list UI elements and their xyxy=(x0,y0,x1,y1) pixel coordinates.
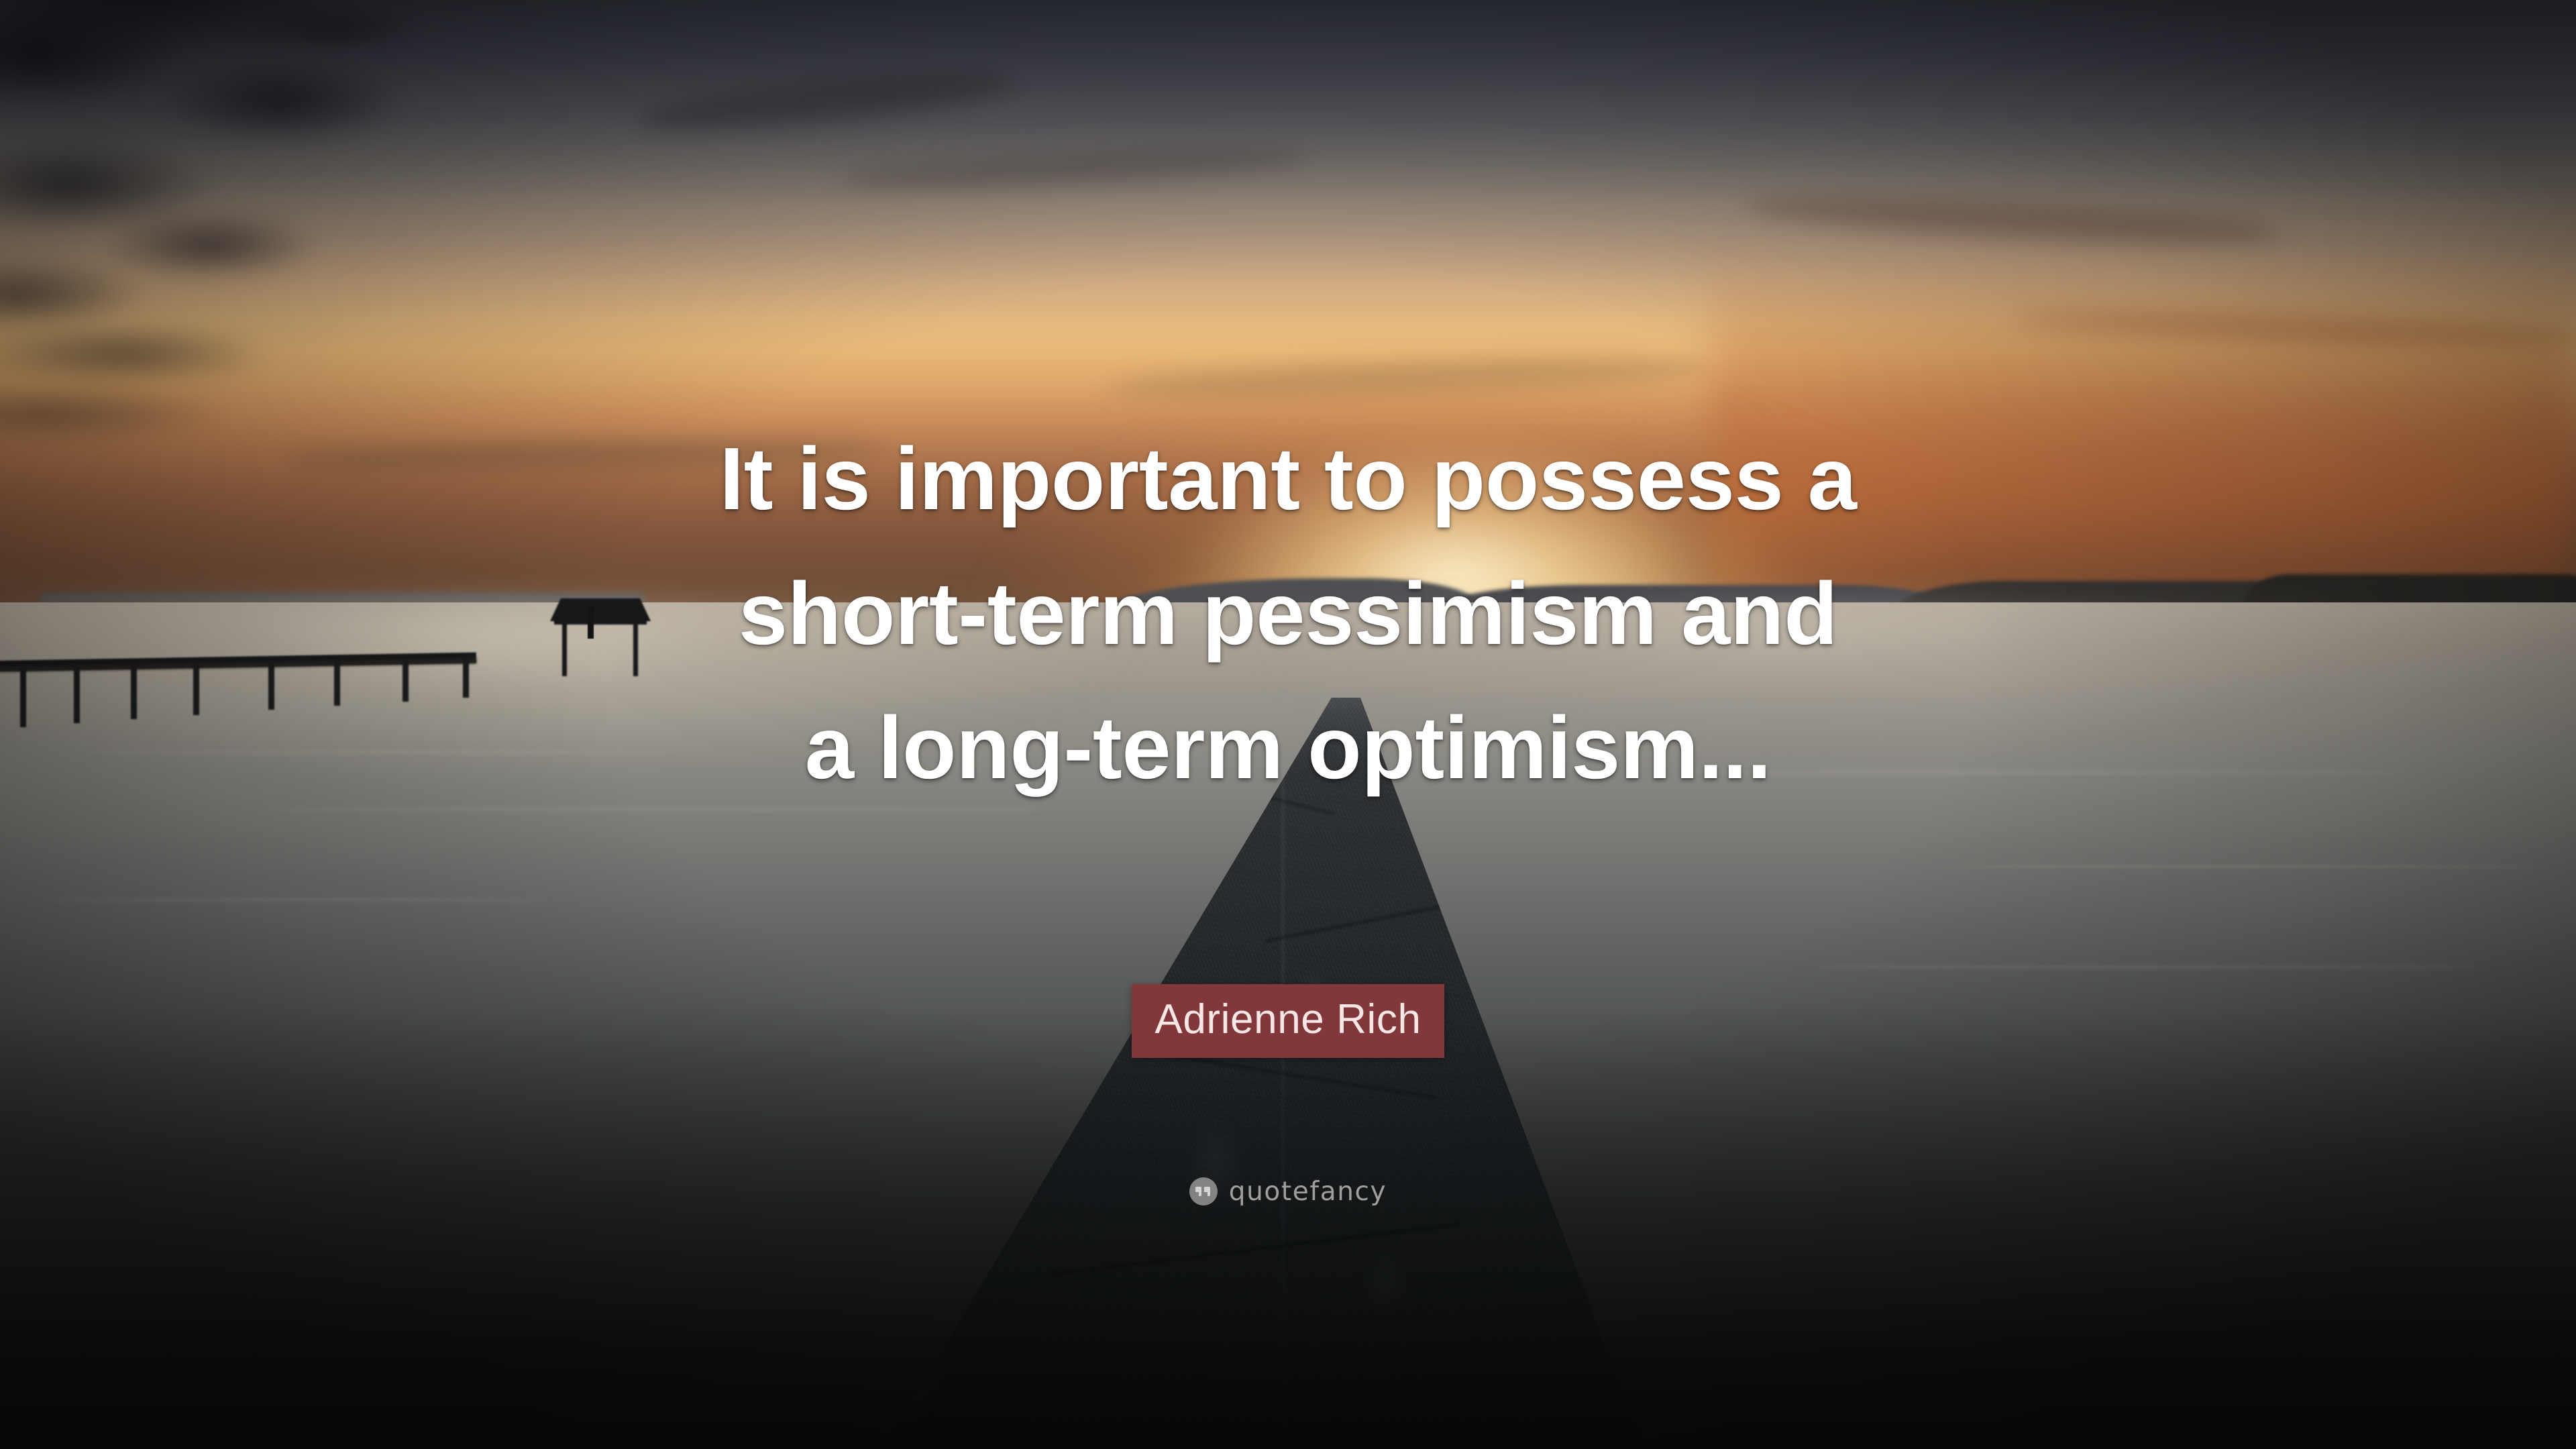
quote-mark-icon xyxy=(1189,1177,1218,1205)
quote-line-2: short-term pessimism and xyxy=(235,547,2341,682)
quote-poster: It is important to possess a short-term … xyxy=(0,0,2576,1449)
quote-line-1: It is important to possess a xyxy=(235,412,2341,547)
watermark-brand-label: quotefancy xyxy=(1229,1179,1387,1205)
quotefancy-watermark[interactable]: quotefancy xyxy=(0,1177,2576,1205)
author-name[interactable]: Adrienne Rich xyxy=(1132,984,1444,1058)
text-overlay: It is important to possess a short-term … xyxy=(0,0,2576,1449)
quote-text: It is important to possess a short-term … xyxy=(0,412,2576,816)
author-attribution: Adrienne Rich xyxy=(0,984,2576,1058)
quote-line-3: a long-term optimism... xyxy=(235,681,2341,816)
